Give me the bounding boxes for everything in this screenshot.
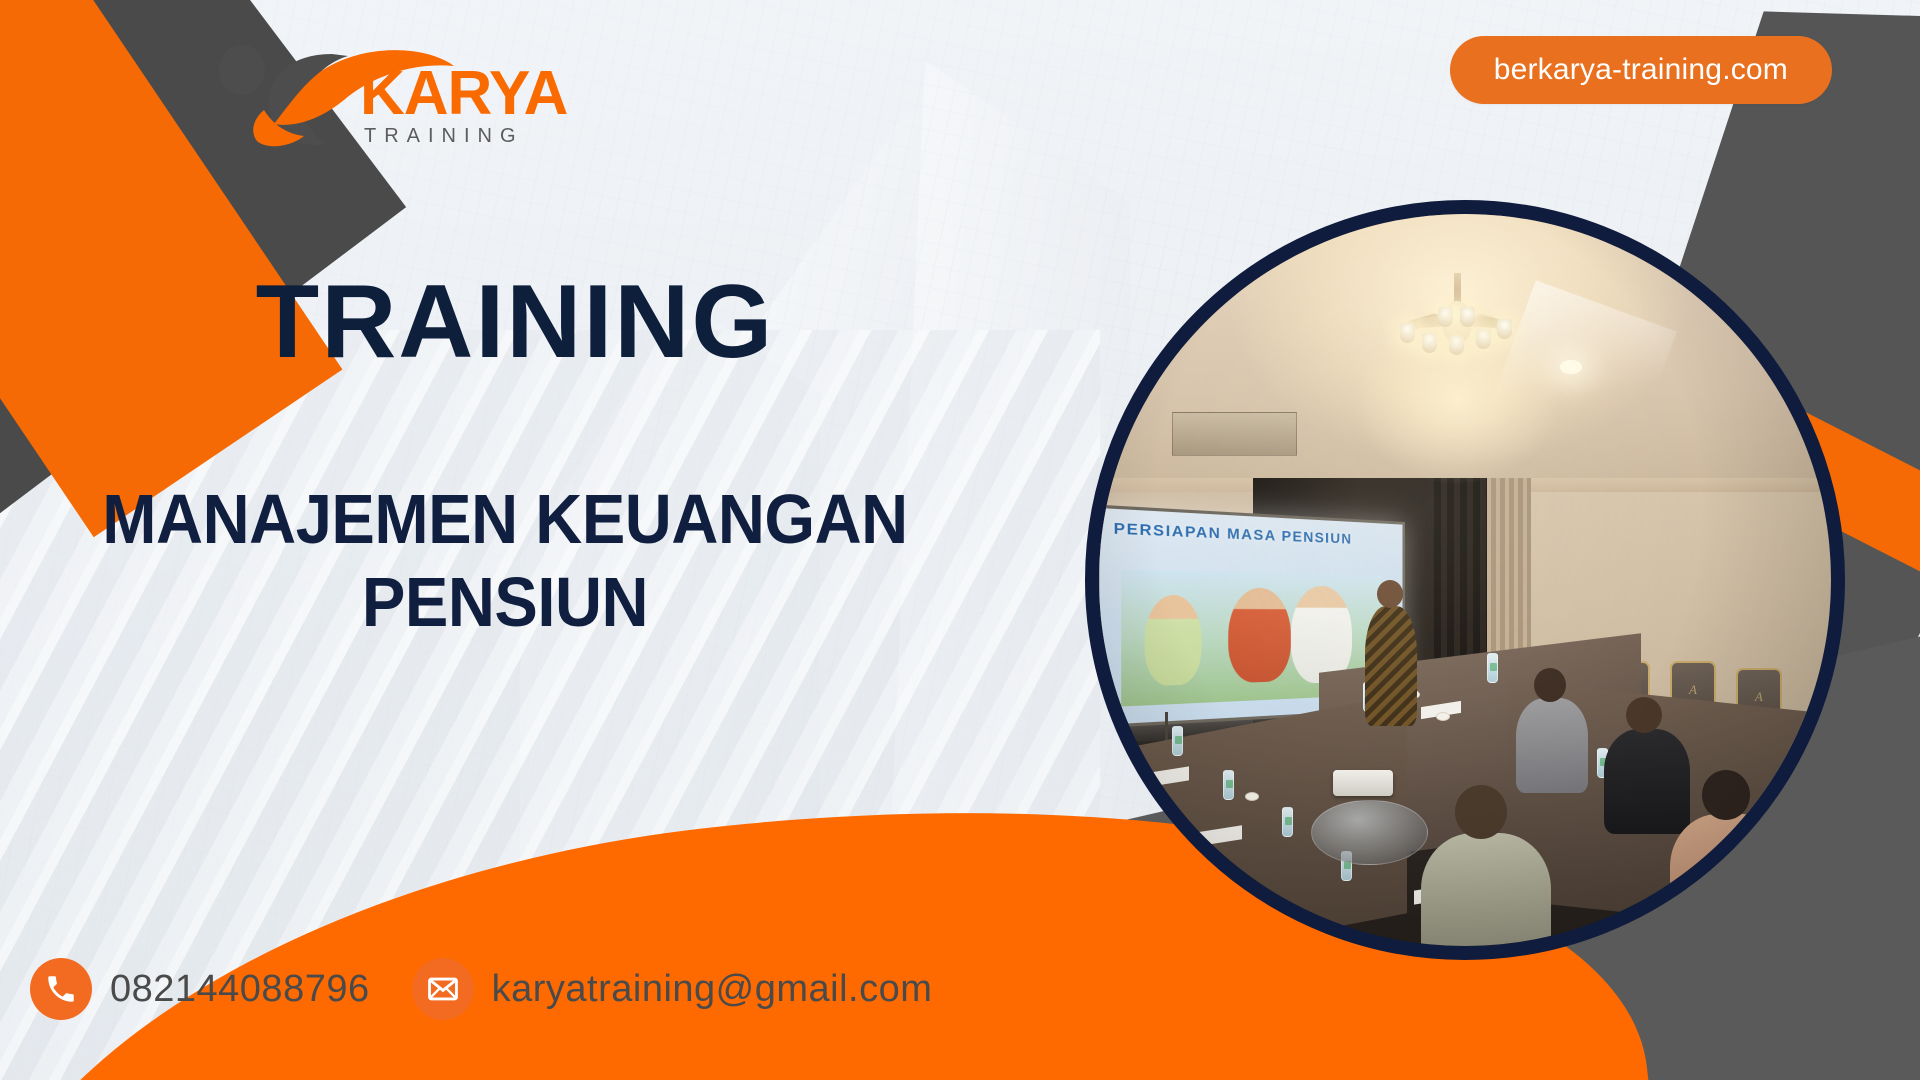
website-badge[interactable]: berkarya-training.com: [1450, 36, 1832, 104]
course-subtitle: MANAJEMEN KEUANGAN PENSIUN: [35, 478, 974, 643]
contact-email[interactable]: karyatraining@gmail.com: [412, 958, 933, 1020]
contact-row: 082144088796 karyatraining@gmail.com: [30, 958, 932, 1020]
phone-number: 082144088796: [110, 968, 370, 1011]
phone-icon: [30, 958, 92, 1020]
contact-phone[interactable]: 082144088796: [30, 958, 370, 1020]
email-address: karyatraining@gmail.com: [492, 968, 933, 1011]
subtitle-line-2: PENSIUN: [35, 561, 974, 644]
headline-block: TRAINING: [0, 270, 1000, 374]
page-title: TRAINING: [30, 270, 1000, 374]
karya-training-logo[interactable]: KARYA TRAINING: [200, 32, 620, 152]
logo-wordmark: KARYA: [360, 59, 568, 128]
seminar-photo: PERSIAPAN MASA PENSIUN: [1085, 200, 1845, 960]
training-promo-banner: KARYA TRAINING berkarya-training.com TRA…: [0, 0, 1920, 1080]
email-icon: [412, 958, 474, 1020]
subtitle-line-1: MANAJEMEN KEUANGAN: [102, 480, 907, 558]
photo-vignette: [1099, 214, 1831, 946]
logo-subtitle: TRAINING: [364, 125, 524, 147]
